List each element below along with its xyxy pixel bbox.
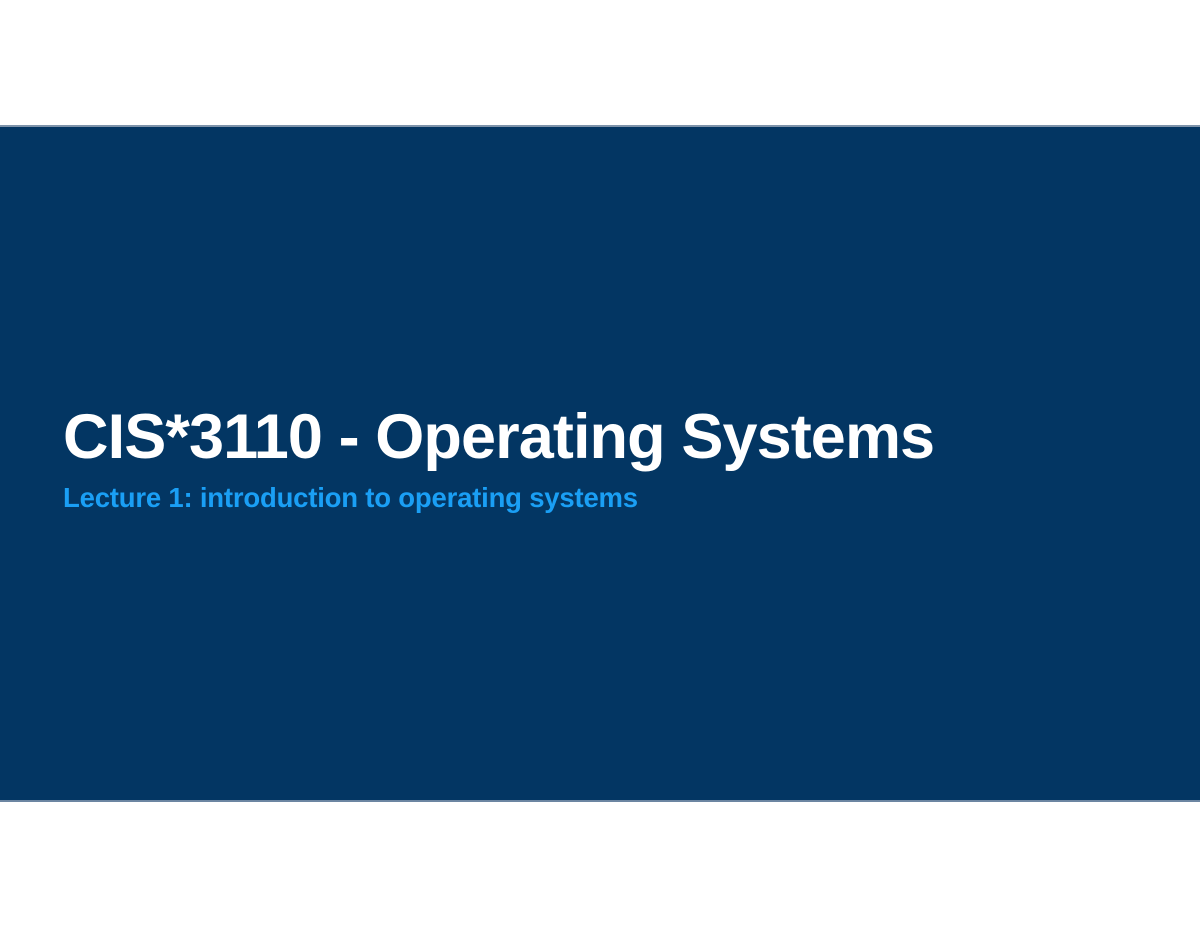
- title-panel: CIS*3110 - Operating Systems Lecture 1: …: [0, 125, 1200, 802]
- heading-block: CIS*3110 - Operating Systems Lecture 1: …: [63, 405, 1143, 514]
- slide-title: CIS*3110 - Operating Systems: [63, 405, 1143, 469]
- slide-subtitle: Lecture 1: introduction to operating sys…: [63, 483, 1143, 513]
- slide-canvas: CIS*3110 - Operating Systems Lecture 1: …: [0, 0, 1200, 927]
